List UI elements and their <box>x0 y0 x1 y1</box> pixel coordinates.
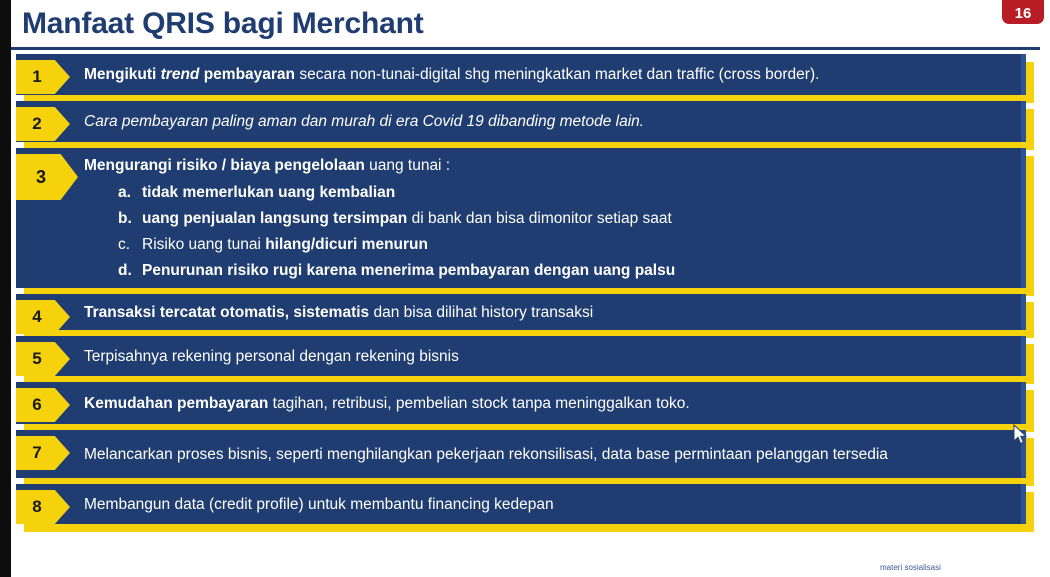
item-1-bold-a: Mengikuti <box>84 66 161 83</box>
sub-marker-a: a. <box>118 181 142 205</box>
item-text-2: Cara pembayaran paling aman dan murah di… <box>0 101 1050 142</box>
item-6-rest: tagihan, retribusi, pembelian stock tanp… <box>268 395 689 412</box>
item-1-rest: secara non-tunai-digital shg meningkatka… <box>295 66 819 83</box>
list-item: 1 Mengikuti trend pembayaran secara non-… <box>0 54 1050 95</box>
page-number-badge: 16 <box>1002 0 1044 24</box>
footer-note: materi sosialisasi <box>880 563 941 572</box>
benefit-list: 1 Mengikuti trend pembayaran secara non-… <box>0 54 1050 530</box>
sub-text-c-bold: hilang/dicuri menurun <box>265 236 428 253</box>
sub-text-a: tidak memerlukan uang kembalian <box>142 181 395 205</box>
list-item: 5 Terpisahnya rekening personal dengan r… <box>0 336 1050 376</box>
list-item: 4 Transaksi tercatat otomatis, sistemati… <box>0 294 1050 330</box>
list-item: 3 Mengurangi risiko / biaya pengelolaan … <box>0 148 1050 288</box>
sub-text-b-bold: uang penjualan langsung tersimpan <box>142 210 407 227</box>
item-1-bold-italic: trend <box>161 66 200 83</box>
item-text-3: Mengurangi risiko / biaya pengelolaan ua… <box>0 148 1050 288</box>
sub-item-c: c. Risiko uang tunai hilang/dicuri menur… <box>118 233 1020 257</box>
list-item: 8 Membangun data (credit profile) untuk … <box>0 484 1050 524</box>
sub-text-c: Risiko uang tunai hilang/dicuri menurun <box>142 233 428 257</box>
item-3-sublist: a. tidak memerlukan uang kembalian b. ua… <box>84 181 1020 283</box>
sub-item-d: d. Penurunan risiko rugi karena menerima… <box>118 259 1020 283</box>
sub-marker-b: b. <box>118 207 142 231</box>
list-item: 7 Melancarkan proses bisnis, seperti men… <box>0 430 1050 478</box>
item-text-5: Terpisahnya rekening personal dengan rek… <box>0 336 1050 376</box>
item-6-bold: Kemudahan pembayaran <box>84 395 268 412</box>
item-text-4: Transaksi tercatat otomatis, sistematis … <box>0 294 1050 330</box>
sub-text-d: Penurunan risiko rugi karena menerima pe… <box>142 259 675 283</box>
item-3-lead-rest: uang tunai : <box>365 157 450 174</box>
sub-text-d-bold: Penurunan risiko rugi karena menerima pe… <box>142 262 675 279</box>
page-title: Manfaat QRIS bagi Merchant <box>22 2 424 46</box>
item-text-8: Membangun data (credit profile) untuk me… <box>0 484 1050 524</box>
sub-text-a-bold: tidak memerlukan uang kembalian <box>142 184 395 201</box>
right-edge-rail <box>1040 0 1050 577</box>
item-3-lead: Mengurangi risiko / biaya pengelolaan ua… <box>84 155 1020 177</box>
sub-text-b: uang penjualan langsung tersimpan di ban… <box>142 207 672 231</box>
sub-item-b: b. uang penjualan langsung tersimpan di … <box>118 207 1020 231</box>
slide-canvas: Manfaat QRIS bagi Merchant 16 1 Mengikut… <box>0 0 1050 577</box>
list-item: 6 Kemudahan pembayaran tagihan, retribus… <box>0 382 1050 424</box>
sub-marker-c: c. <box>118 233 142 257</box>
sub-marker-d: d. <box>118 259 142 283</box>
item-3-lead-bold: Mengurangi risiko / biaya pengelolaan <box>84 157 365 174</box>
left-edge-rail <box>0 0 11 577</box>
sub-item-a: a. tidak memerlukan uang kembalian <box>118 181 1020 205</box>
item-text-7: Melancarkan proses bisnis, seperti mengh… <box>0 430 1050 478</box>
list-item: 2 Cara pembayaran paling aman dan murah … <box>0 101 1050 142</box>
item-text-6: Kemudahan pembayaran tagihan, retribusi,… <box>0 382 1050 424</box>
item-text-1: Mengikuti trend pembayaran secara non-tu… <box>0 54 1050 95</box>
item-4-rest: dan bisa dilihat history transaksi <box>369 304 593 321</box>
title-divider <box>11 47 1050 50</box>
sub-text-b-rest: di bank dan bisa dimonitor setiap saat <box>407 210 672 227</box>
item-4-bold: Transaksi tercatat otomatis, sistematis <box>84 304 369 321</box>
sub-text-c-pre: Risiko uang tunai <box>142 236 265 253</box>
item-1-bold-b: pembayaran <box>199 66 295 83</box>
